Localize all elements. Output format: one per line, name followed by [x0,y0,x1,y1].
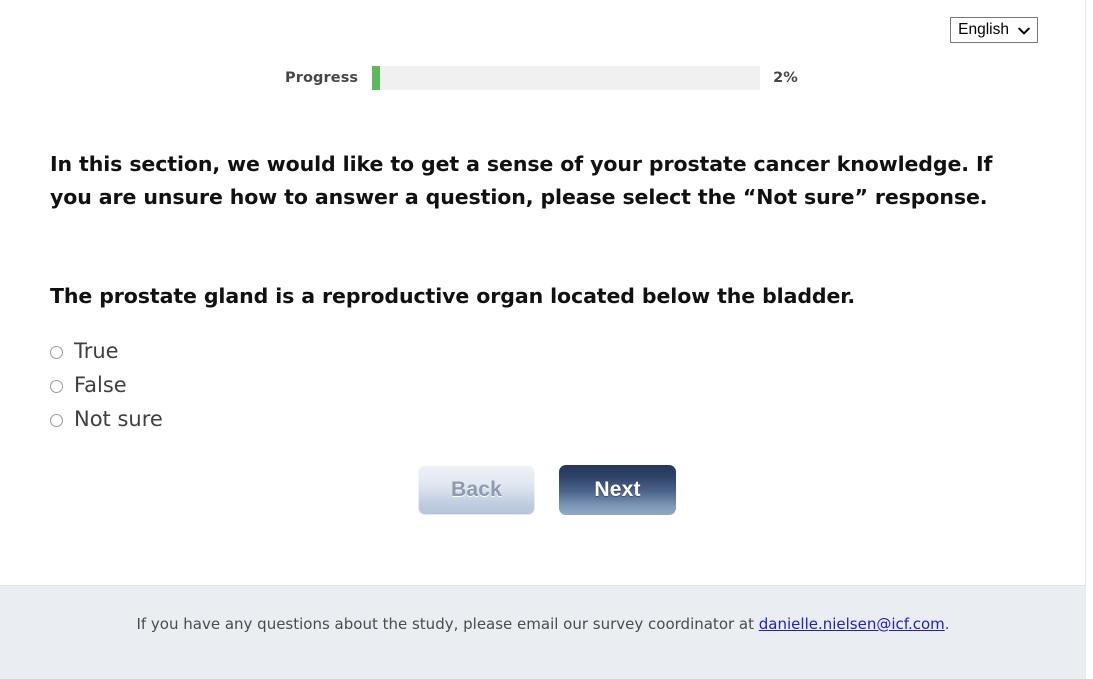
radio-icon-true[interactable] [50,346,63,359]
language-select[interactable]: English [950,17,1038,43]
footer-text-before: If you have any questions about the stud… [136,615,758,633]
progress-track [372,66,760,90]
option-row-false[interactable]: False [50,368,1040,402]
survey-page: English Progress 2% In this section, we … [0,0,1086,679]
radio-icon-not-sure[interactable] [50,414,63,427]
progress-fill [372,66,380,90]
survey-content: In this section, we would like to get a … [50,148,1040,436]
progress-label: Progress [285,70,358,86]
option-label-false: False [74,371,127,399]
navigation-buttons: Back Next [418,465,676,515]
footer-text: If you have any questions about the stud… [0,586,1086,636]
next-button[interactable]: Next [559,465,676,515]
footer: If you have any questions about the stud… [0,585,1086,679]
language-selector-wrapper: English [950,17,1038,43]
progress-bar-row: Progress 2% [285,66,798,90]
option-label-not-sure: Not sure [74,405,163,433]
option-label-true: True [74,337,119,365]
progress-percent: 2% [773,70,798,86]
option-row-not-sure[interactable]: Not sure [50,402,1040,436]
page-right-gutter [1087,0,1093,679]
question-text: The prostate gland is a reproductive org… [50,280,1040,313]
language-select-value: English [958,20,1009,39]
chevron-down-icon [1018,25,1030,37]
footer-email-link[interactable]: danielle.nielsen@icf.com [759,615,945,633]
radio-icon-false[interactable] [50,380,63,393]
answer-options: True False Not sure [50,334,1040,436]
back-button[interactable]: Back [418,465,535,515]
footer-text-after: . [945,615,950,633]
option-row-true[interactable]: True [50,334,1040,368]
section-intro-text: In this section, we would like to get a … [50,148,1040,214]
